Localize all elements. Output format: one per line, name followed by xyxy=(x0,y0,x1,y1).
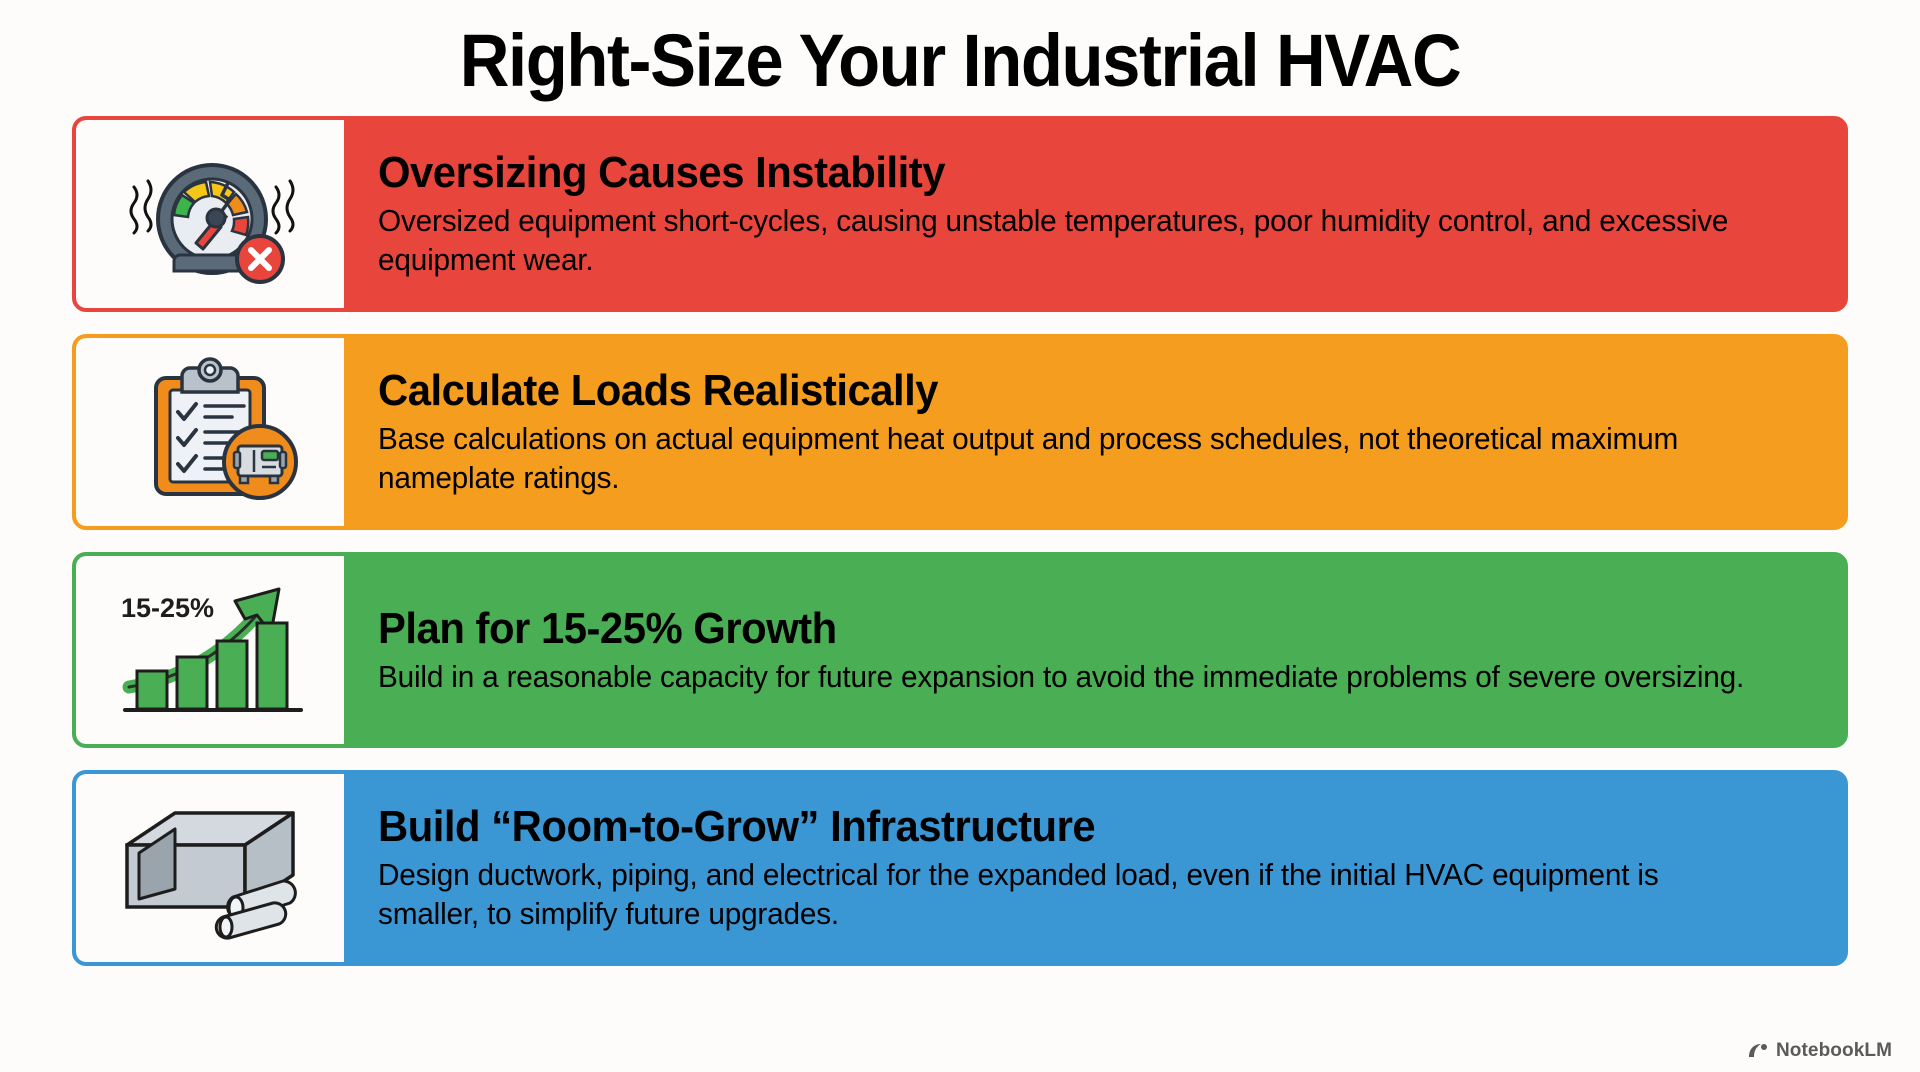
text-panel-1: Oversizing Causes Instability Oversized … xyxy=(344,120,1844,308)
infographic-page: Right-Size Your Industrial HVAC xyxy=(0,0,1920,1072)
row-description: Base calculations on actual equipment he… xyxy=(378,419,1751,498)
notebooklm-logo-icon xyxy=(1747,1042,1769,1060)
duct-pipes-icon xyxy=(105,793,315,943)
row-plan-growth[interactable]: 15-25% Plan for 15-25% Growth Build in a xyxy=(72,552,1848,748)
row-heading: Build “Room-to-Grow” Infrastructure xyxy=(378,803,1740,851)
gauge-shaking-error-icon xyxy=(110,139,310,289)
icon-panel-3: 15-25% xyxy=(76,556,344,744)
icon-panel-1 xyxy=(76,120,344,308)
row-oversizing[interactable]: Oversizing Causes Instability Oversized … xyxy=(72,116,1848,312)
row-heading: Calculate Loads Realistically xyxy=(378,367,1740,415)
row-description: Build in a reasonable capacity for futur… xyxy=(378,657,1751,697)
icon-panel-2 xyxy=(76,338,344,526)
row-room-to-grow[interactable]: Build “Room-to-Grow” Infrastructure Desi… xyxy=(72,770,1848,966)
clipboard-checklist-machine-icon xyxy=(110,354,310,509)
row-heading: Plan for 15-25% Growth xyxy=(378,605,1740,653)
page-title: Right-Size Your Industrial HVAC xyxy=(67,0,1853,100)
row-heading: Oversizing Causes Instability xyxy=(378,149,1740,197)
row-description: Design ductwork, piping, and electrical … xyxy=(378,855,1751,934)
text-panel-4: Build “Room-to-Grow” Infrastructure Desi… xyxy=(344,774,1844,962)
rows-container: Oversizing Causes Instability Oversized … xyxy=(72,116,1848,966)
text-panel-2: Calculate Loads Realistically Base calcu… xyxy=(344,338,1844,526)
growth-bar-chart-icon: 15-25% xyxy=(103,575,318,725)
watermark-label: NotebookLM xyxy=(1776,1040,1892,1062)
text-panel-3: Plan for 15-25% Growth Build in a reason… xyxy=(344,556,1844,744)
row-description: Oversized equipment short-cycles, causin… xyxy=(378,201,1751,280)
growth-percent-label: 15-25% xyxy=(121,593,214,623)
icon-panel-4 xyxy=(76,774,344,962)
row-calculate-loads[interactable]: Calculate Loads Realistically Base calcu… xyxy=(72,334,1848,530)
notebooklm-watermark: NotebookLM xyxy=(1747,1040,1892,1062)
